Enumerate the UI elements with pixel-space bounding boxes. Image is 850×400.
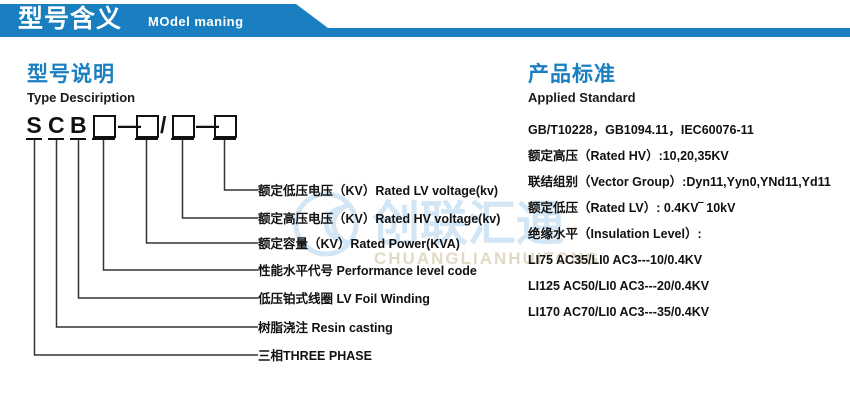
standard-row-4: 额定低压（Rated LV）: 0.4KV‾ 10kV xyxy=(528,200,735,217)
model-code-char-s: S xyxy=(26,112,42,139)
model-code-char-c: C xyxy=(48,112,64,139)
callout-label-cn: 三相 xyxy=(258,349,283,363)
leader-line-7 xyxy=(225,140,259,190)
type-description-title-en: Type Desciription xyxy=(27,89,135,106)
callout-row-3: 额定容量（KV）Rated Power(KVA) xyxy=(258,236,460,252)
standard-row-8: LI170 AC70/LI0 AC3---35/0.4KV xyxy=(528,304,709,321)
callout-label-en: LV Foil Winding xyxy=(337,292,430,306)
model-code-underline-6 xyxy=(171,138,194,140)
callout-label-cn: 低压铂式线圈 xyxy=(258,292,333,306)
model-code-underline-7 xyxy=(213,138,236,140)
callout-label-en: Rated Power(KVA) xyxy=(350,237,460,251)
standard-row-7: LI125 AC50/LI0 AC3---20/0.4KV xyxy=(528,278,709,295)
leader-line-6 xyxy=(183,140,259,218)
callout-row-2: 额定高压电压（KV）Rated HV voltage(kv) xyxy=(258,211,500,227)
model-code-box-1 xyxy=(93,115,116,138)
callout-label-en: THREE PHASE xyxy=(283,349,372,363)
callout-row-4: 性能水平代号 Performance level code xyxy=(258,263,477,279)
standard-row-3: 联结组别（Vector Group）:Dyn11,Yyn0,YNd11,Yd11 xyxy=(528,174,831,191)
callout-label-cn: 树脂浇注 xyxy=(258,321,308,335)
standard-row-6: LI75 AC35/LI0 AC3---10/0.4KV xyxy=(528,252,702,269)
type-description-heading: 型号说明 Type Desciription xyxy=(27,62,135,106)
model-code-underline-5 xyxy=(135,138,158,140)
model-code-box-4 xyxy=(214,115,237,138)
model-code-underline-3 xyxy=(70,138,86,140)
banner-title-cn: 型号含义 xyxy=(18,5,122,34)
standard-row-5: 绝缘水平（Insulation Level）: xyxy=(528,226,702,243)
callout-label-en: Performance level code xyxy=(337,264,477,278)
standard-row-2: 额定高压（Rated HV）:10,20,35KV xyxy=(528,148,729,165)
callout-label-cn: 额定高压电压（KV） xyxy=(258,212,375,226)
callout-label-en: Rated LV voltage(kv) xyxy=(375,184,498,198)
callout-label-cn: 性能水平代号 xyxy=(258,264,333,278)
callout-row-5: 低压铂式线圈 LV Foil Winding xyxy=(258,291,430,307)
banner-title-en: MOdel maning xyxy=(148,14,244,30)
model-code-row: S C B — / — xyxy=(0,112,250,146)
callout-row-6: 树脂浇注 Resin casting xyxy=(258,320,393,336)
leader-line-2 xyxy=(57,140,259,327)
leader-line-3 xyxy=(79,140,259,298)
leader-lines-graphic xyxy=(0,138,260,363)
leader-line-5 xyxy=(147,140,259,243)
callout-row-7: 三相THREE PHASE xyxy=(258,348,372,364)
model-code-char-b: B xyxy=(70,112,86,139)
callout-label-en: Resin casting xyxy=(312,321,393,335)
leader-line-4 xyxy=(104,140,259,270)
model-code-slash: / xyxy=(160,112,166,139)
applied-standard-heading: 产品标准 Applied Standard xyxy=(528,62,636,106)
applied-standard-title-en: Applied Standard xyxy=(528,89,636,106)
callout-label-cn: 额定容量（KV） xyxy=(258,237,350,251)
model-code-underline-4 xyxy=(92,138,115,140)
leader-lines xyxy=(0,138,260,368)
callout-row-1: 额定低压电压（KV）Rated LV voltage(kv) xyxy=(258,183,498,199)
model-code-box-3 xyxy=(172,115,195,138)
applied-standard-title-cn: 产品标准 xyxy=(528,62,636,87)
page-banner: 型号含义 MOdel maning xyxy=(0,0,850,42)
callout-label-en: Rated HV voltage(kv) xyxy=(375,212,500,226)
callout-label-cn: 额定低压电压（KV） xyxy=(258,184,375,198)
standard-row-1: GB/T10228，GB1094.11，IEC60076-11 xyxy=(528,122,754,139)
model-code-underline-2 xyxy=(48,138,64,140)
model-code-underline-1 xyxy=(26,138,42,140)
type-description-title-cn: 型号说明 xyxy=(27,62,135,87)
model-code-box-2 xyxy=(136,115,159,138)
